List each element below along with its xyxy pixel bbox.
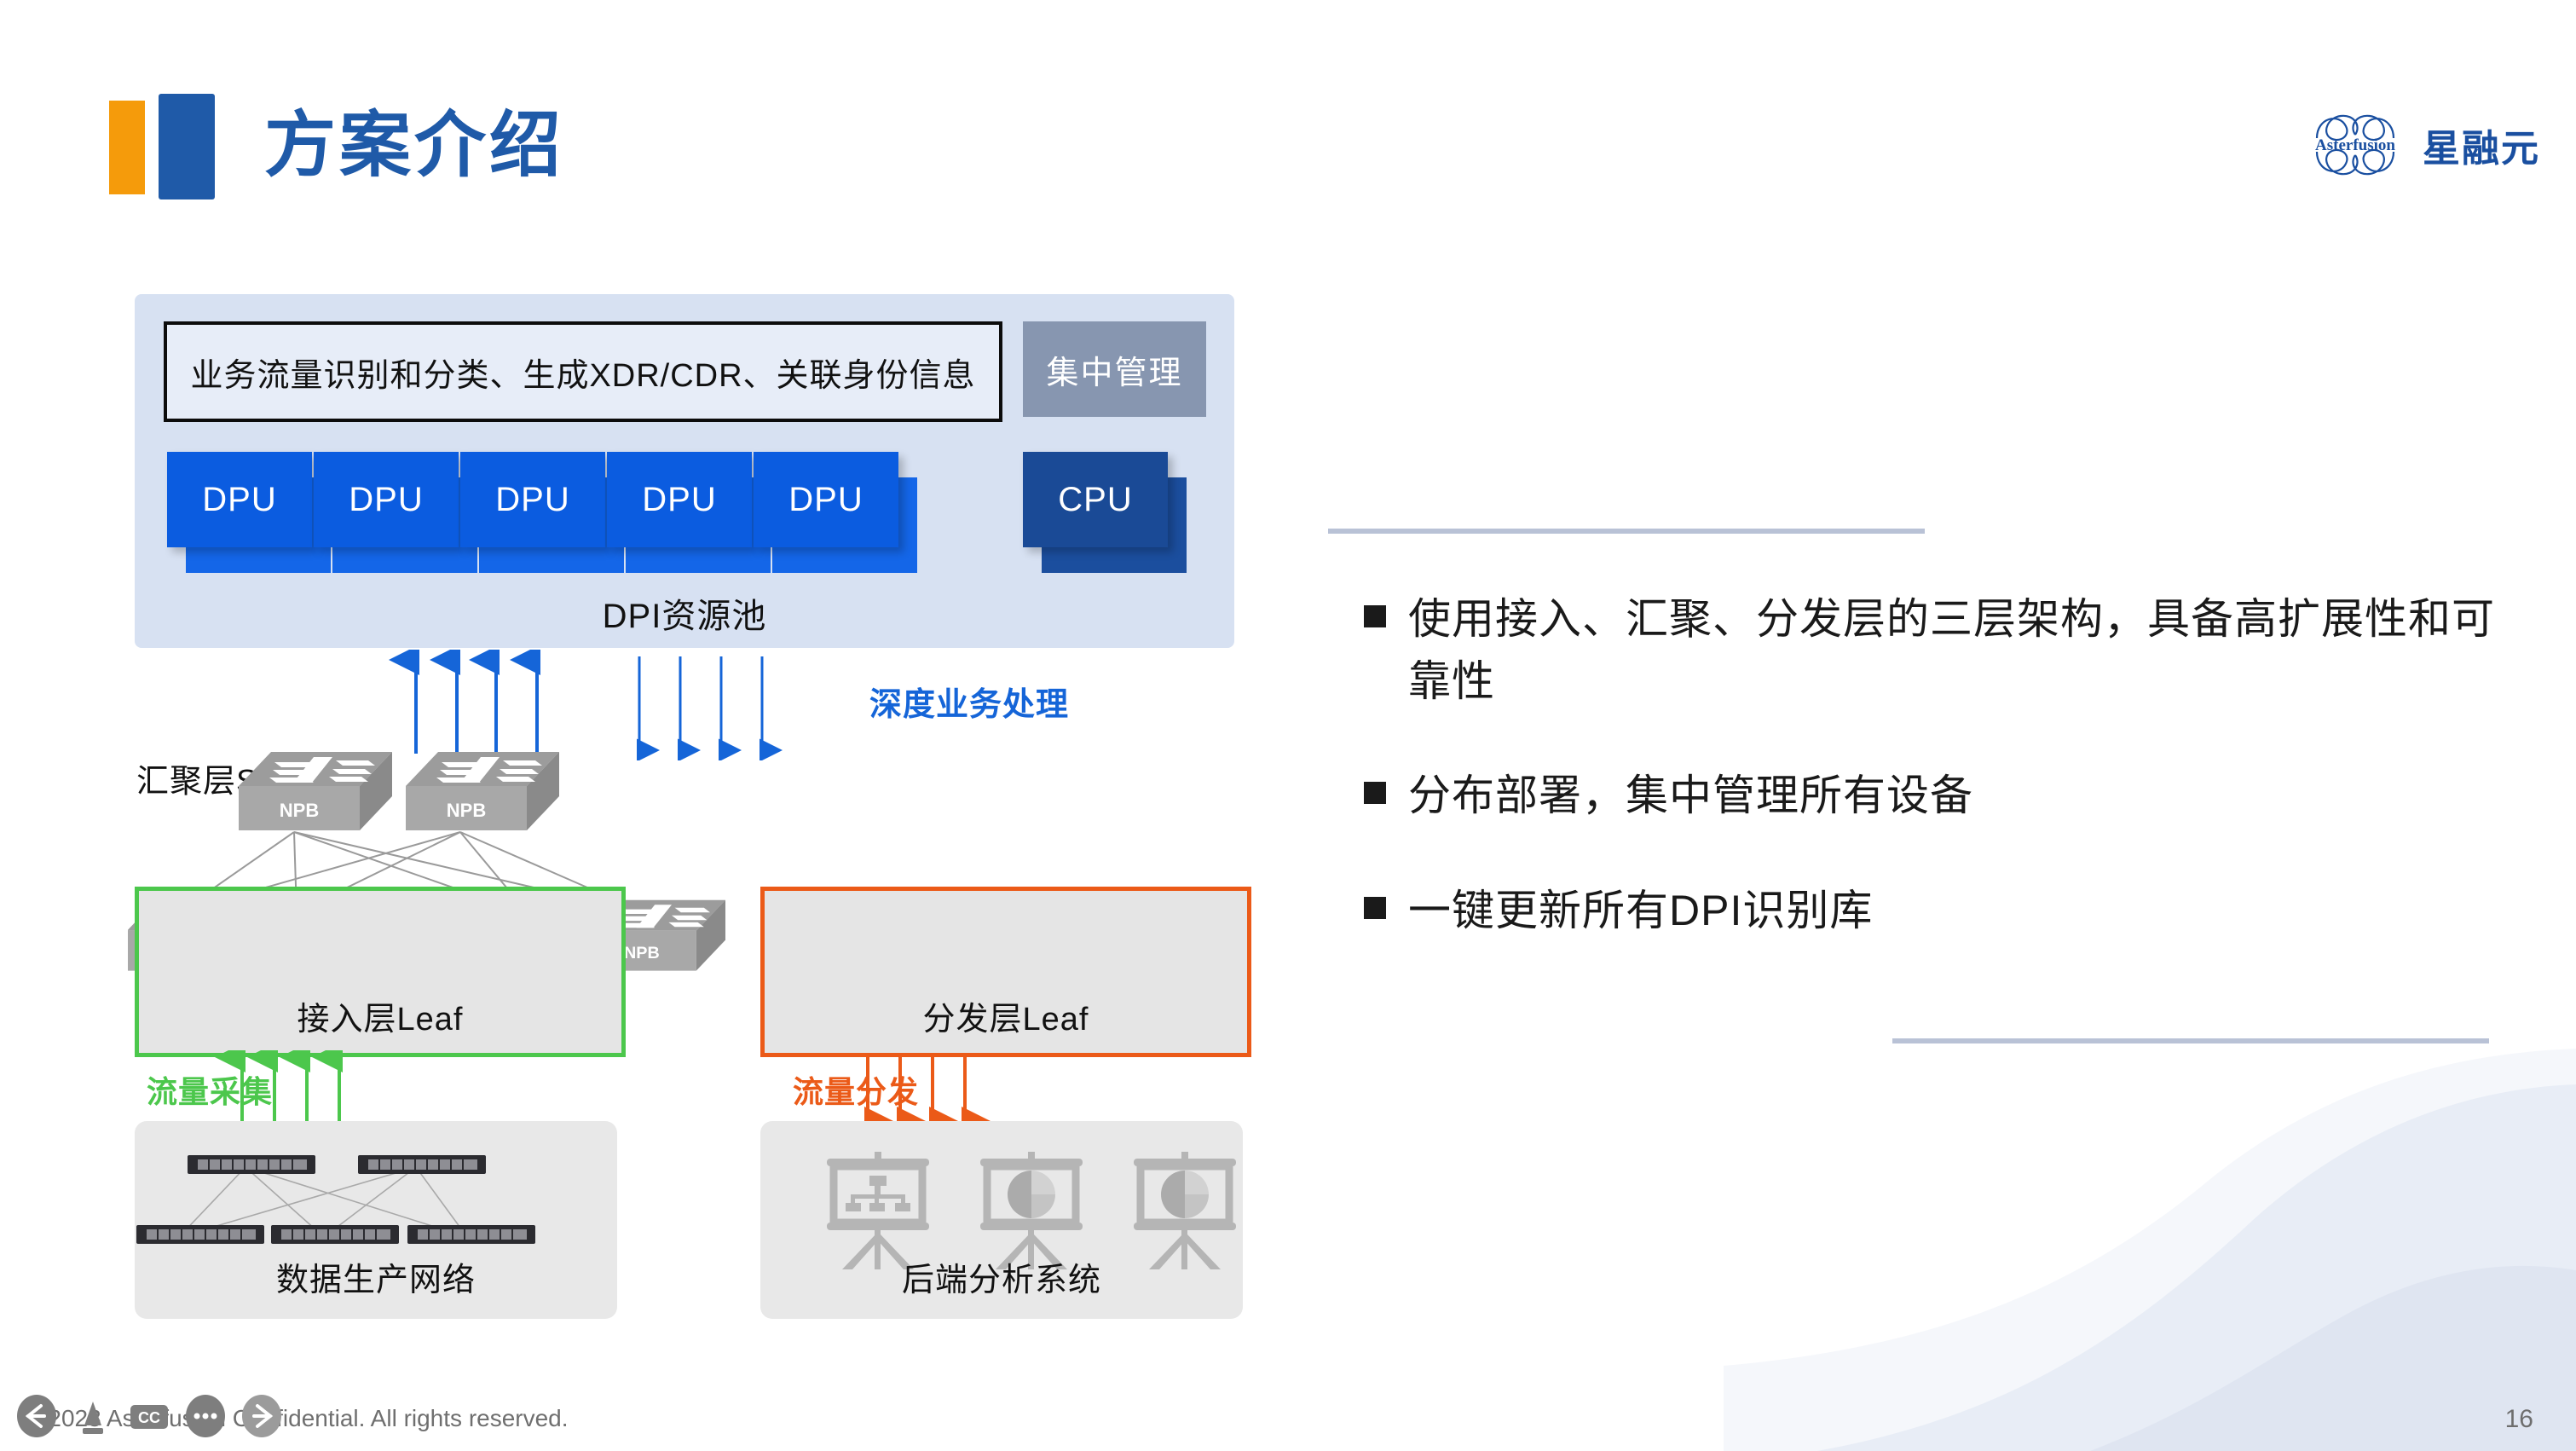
brand-logo: Asterfusion 星融元: [2302, 104, 2540, 186]
divider-line-top: [1328, 529, 1925, 534]
asterfusion-knot-icon: Asterfusion: [2302, 104, 2409, 186]
dist-leaf-label: 分发层Leaf: [765, 992, 1247, 1039]
production-network-label: 数据生产网络: [135, 1253, 617, 1300]
key-points-list: 使用接入、汇聚、分发层的三层架构，具备高扩展性和可靠性 分布部署，集中管理所有设…: [1364, 588, 2506, 994]
dpu-card: DPU: [314, 452, 459, 547]
dpu-card-label: DPU: [642, 481, 716, 519]
traffic-collect-label: 流量采集: [147, 1067, 273, 1112]
list-item: 使用接入、汇聚、分发层的三层架构，具备高扩展性和可靠性: [1364, 588, 2506, 712]
list-item: 分布部署，集中管理所有设备: [1364, 765, 2506, 827]
org-chart-board-icon: [827, 1152, 929, 1269]
page-number: 16: [2505, 1405, 2533, 1434]
cpu-card-label: CPU: [1058, 481, 1132, 519]
title-accent-bar-blue: [159, 94, 215, 199]
dpu-card-label: DPU: [788, 481, 863, 519]
page-title: 方案介绍: [264, 94, 564, 196]
bullet-square-icon: [1364, 782, 1386, 804]
dpu-card: DPU: [167, 452, 312, 547]
divider-line-bottom: [1892, 1038, 2489, 1043]
back-arrow-icon[interactable]: [15, 1395, 58, 1437]
analysis-system-group: 后端分析系统: [760, 1121, 1243, 1319]
forward-arrow-icon[interactable]: [240, 1395, 283, 1437]
list-item-text: 分布部署，集中管理所有设备: [1408, 765, 1973, 827]
production-network-group: 数据生产网络: [135, 1121, 617, 1319]
central-management-label: 集中管理: [1046, 346, 1182, 393]
traffic-description-text: 业务流量识别和分类、生成XDR/CDR、关联身份信息: [190, 349, 975, 396]
pen-icon[interactable]: [72, 1395, 114, 1437]
dist-leaf-group: 分发层Leaf: [760, 887, 1251, 1057]
dpu-card-label: DPU: [495, 481, 569, 519]
access-leaf-label: 接入层Leaf: [139, 992, 621, 1039]
spine-switch-icon: [239, 752, 392, 830]
dpu-card-label: DPU: [202, 481, 276, 519]
list-item-text: 一键更新所有DPI识别库: [1408, 880, 1873, 942]
pie-chart-board-icon: [1134, 1152, 1236, 1269]
access-leaf-group: 接入层Leaf: [135, 887, 626, 1057]
analysis-system-label: 后端分析系统: [760, 1253, 1243, 1300]
asterfusion-wordmark: Asterfusion: [2315, 136, 2395, 154]
brand-name-cn: 星融元: [2423, 118, 2540, 172]
dpu-card: DPU: [607, 452, 752, 547]
cpu-card: CPU: [1023, 452, 1168, 547]
title-accent-bar-orange: [109, 101, 145, 194]
list-item-text: 使用接入、汇聚、分发层的三层架构，具备高扩展性和可靠性: [1408, 588, 2506, 712]
dpu-card: DPU: [460, 452, 605, 547]
spine-switch-icon: [406, 752, 559, 830]
pie-chart-board-icon: [980, 1152, 1083, 1269]
list-item: 一键更新所有DPI识别库: [1364, 880, 2506, 942]
traffic-distribute-label: 流量分发: [793, 1067, 919, 1112]
more-options-icon[interactable]: [184, 1395, 227, 1437]
captions-icon[interactable]: CC: [128, 1395, 170, 1437]
rack-switch-icon: [136, 1155, 535, 1244]
svg-text:CC: CC: [138, 1409, 160, 1426]
dpu-card-label: DPU: [349, 481, 423, 519]
deep-processing-label: 深度业务处理: [869, 678, 1069, 725]
dpi-pool-label: DPI资源池: [135, 588, 1234, 638]
traffic-description-box: 业务流量识别和分类、生成XDR/CDR、关联身份信息: [164, 321, 1002, 422]
bullet-square-icon: [1364, 605, 1386, 627]
decorative-wave-background: [1724, 974, 2576, 1451]
bullet-square-icon: [1364, 897, 1386, 919]
processor-card-row: DPU DPU DPU DPU DPU CPU: [135, 452, 1234, 575]
dpu-card: DPU: [754, 452, 898, 547]
presentation-controls[interactable]: CC: [15, 1395, 283, 1437]
central-management-box: 集中管理: [1023, 321, 1206, 417]
dpi-resource-pool-panel: 业务流量识别和分类、生成XDR/CDR、关联身份信息 集中管理 DPU DPU …: [135, 294, 1234, 648]
